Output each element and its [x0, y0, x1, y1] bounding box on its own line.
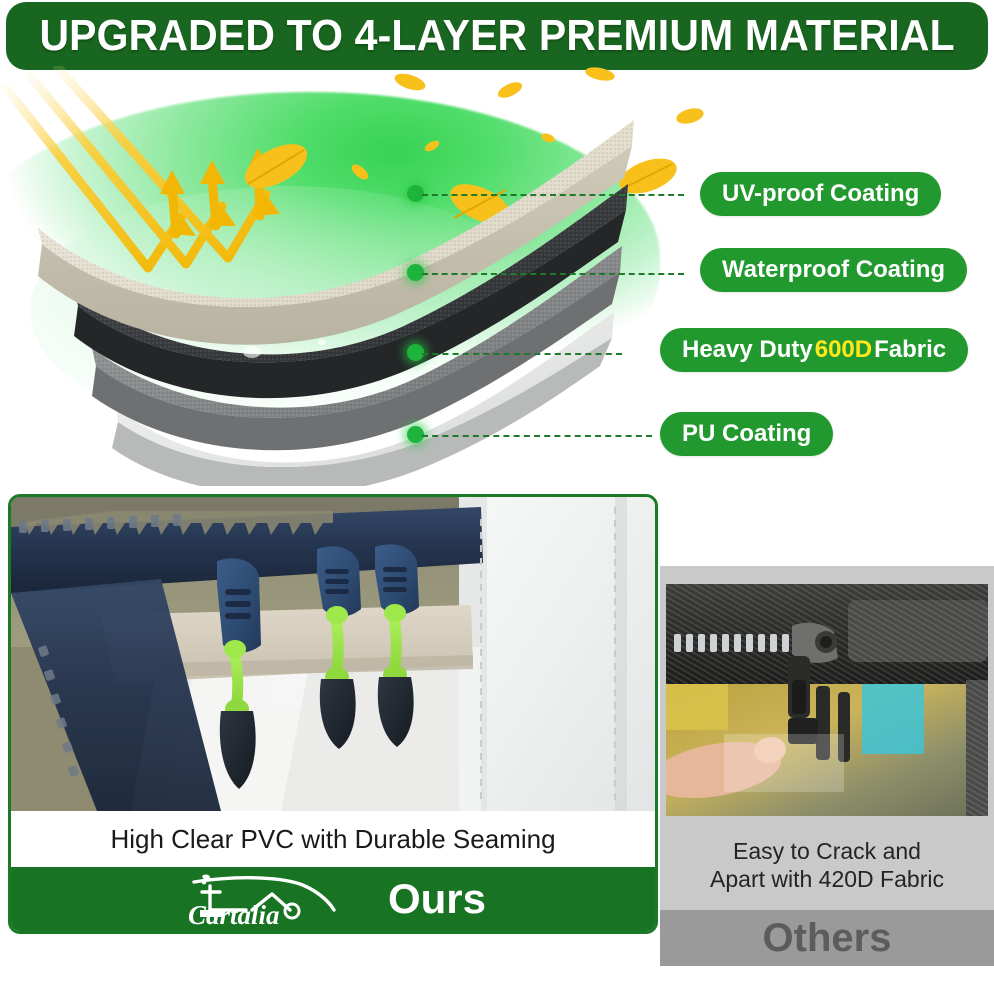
header-banner: UPGRADED TO 4-LAYER PREMIUM MATERIAL — [6, 2, 988, 70]
others-caption-line2: Apart with 420D Fabric — [710, 865, 944, 893]
layer-label-uv-proof-text: UV-proof Coating — [722, 180, 919, 208]
ours-zipper-photo-graphic — [11, 497, 655, 811]
ours-photo — [11, 497, 655, 811]
layer-label-600d-highlight: 600D — [813, 336, 874, 364]
others-photo — [666, 584, 988, 816]
layer-label-pu-coating: PU Coating — [660, 412, 833, 456]
ours-caption: High Clear PVC with Durable Seaming — [11, 811, 655, 867]
others-zipper-photo-graphic — [666, 584, 988, 816]
golf-cart-logo-icon: Cartalia — [180, 870, 370, 928]
fabric-layers-graphic — [0, 66, 700, 486]
others-label-bar: Others — [660, 910, 994, 966]
cartalia-logo: Cartalia — [180, 870, 370, 928]
layer-label-600d-suffix: Fabric — [874, 336, 946, 364]
connector-pu-coating — [422, 435, 652, 437]
ours-comparison-card: High Clear PVC with Durable Seaming — [8, 494, 658, 934]
layer-label-pu-coating-text: PU Coating — [682, 420, 811, 448]
others-label: Others — [763, 916, 892, 961]
connector-uv-proof — [422, 194, 684, 196]
layer-label-600d: Heavy Duty 600D Fabric — [660, 328, 968, 372]
others-caption-line1: Easy to Crack and — [733, 837, 921, 865]
layer-label-600d-prefix: Heavy Duty — [682, 336, 813, 364]
connector-600d — [422, 353, 622, 355]
page-title: UPGRADED TO 4-LAYER PREMIUM MATERIAL — [39, 11, 954, 61]
infographic-page: UPGRADED TO 4-LAYER PREMIUM MATERIAL — [0, 0, 994, 1000]
others-caption: Easy to Crack and Apart with 420D Fabric — [660, 820, 994, 910]
ours-caption-text: High Clear PVC with Durable Seaming — [110, 824, 555, 855]
others-comparison-card: Easy to Crack and Apart with 420D Fabric… — [660, 566, 994, 966]
layer-label-waterproof: Waterproof Coating — [700, 248, 967, 292]
ours-label: Ours — [388, 875, 486, 923]
layer-label-waterproof-text: Waterproof Coating — [722, 256, 945, 284]
cartalia-logo-text: Cartalia — [188, 900, 280, 928]
layer-label-uv-proof: UV-proof Coating — [700, 172, 941, 216]
connector-waterproof — [422, 273, 684, 275]
ours-label-bar: Cartalia Ours — [11, 867, 655, 931]
